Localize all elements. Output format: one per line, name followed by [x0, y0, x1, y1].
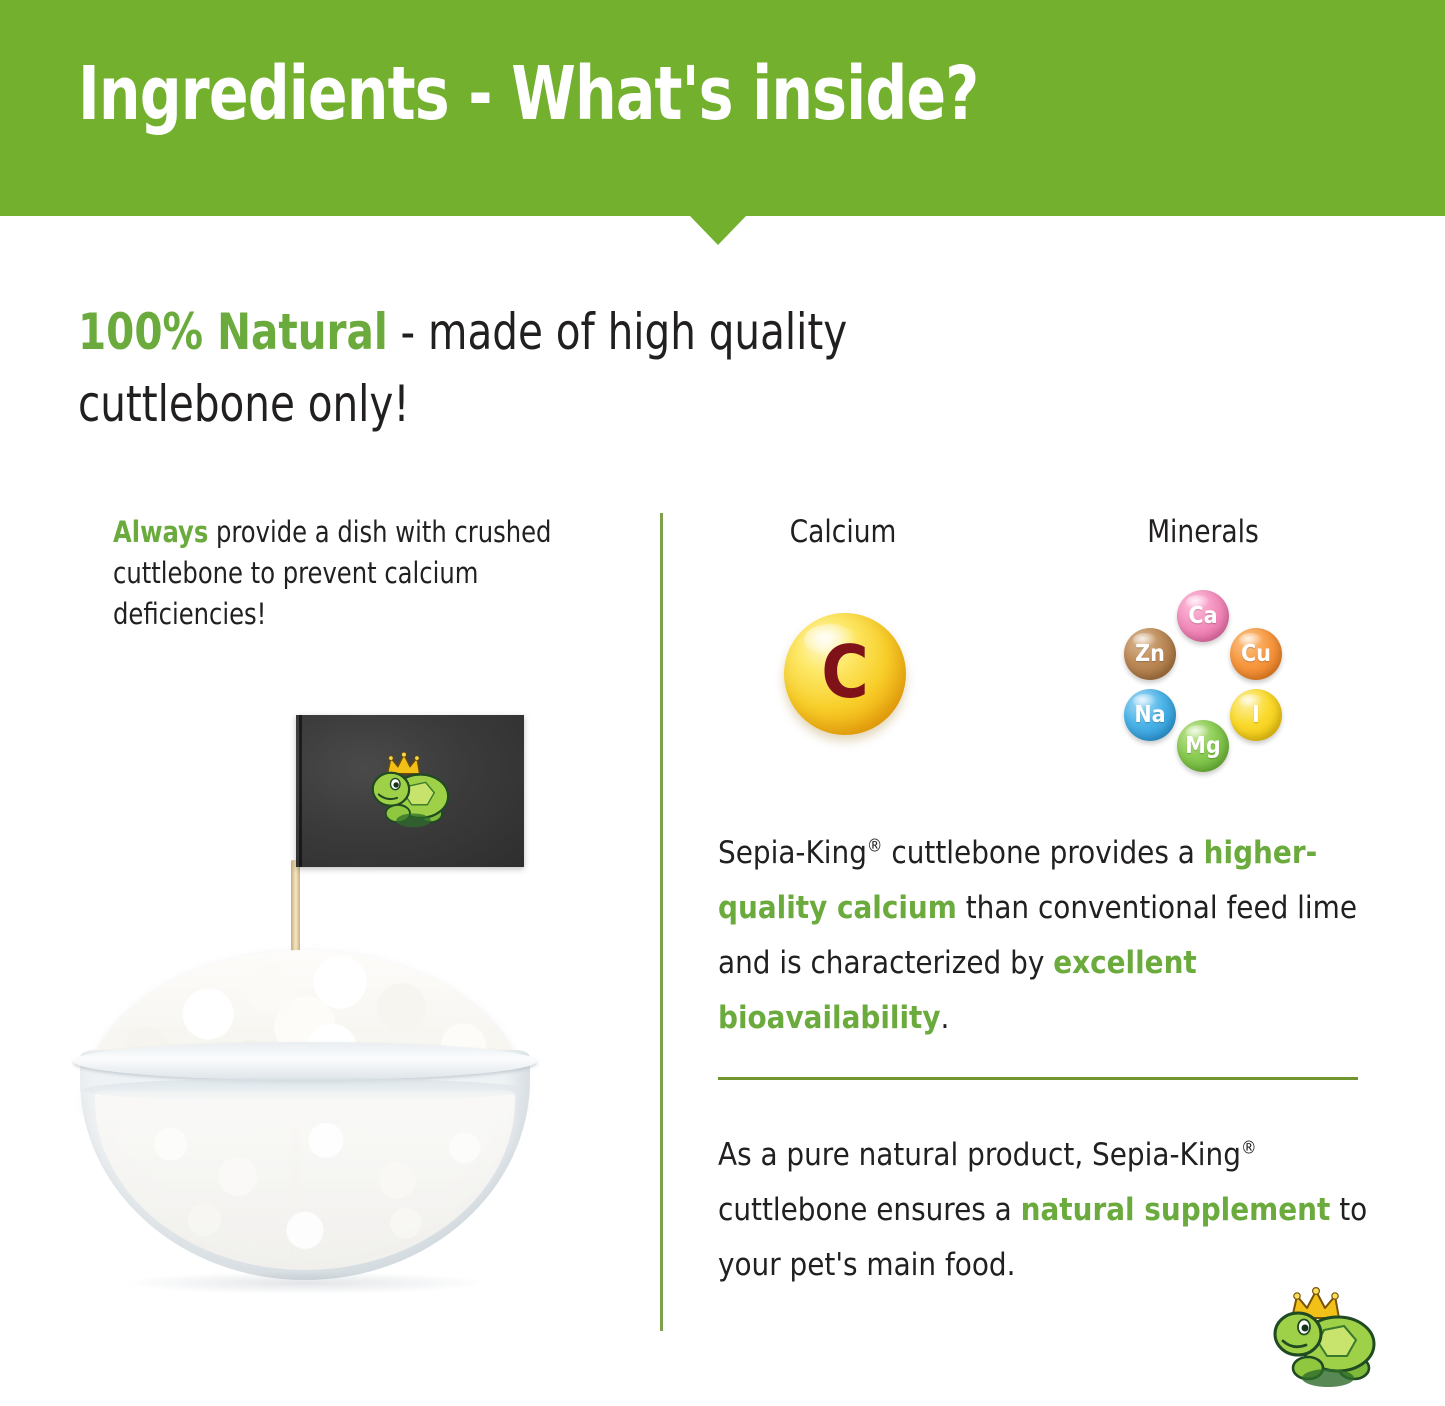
minerals-group: Ca Zn Cu Na Mg I: [1113, 590, 1293, 770]
header-banner: Ingredients - What's inside?: [0, 0, 1445, 216]
nutrient-labels: Calcium Minerals: [718, 512, 1358, 556]
registered-mark-2: ®: [1241, 1139, 1257, 1159]
mineral-i-icon: I: [1230, 689, 1282, 741]
always-note-highlight: Always: [113, 515, 208, 549]
always-note: Always provide a dish with crushed cuttl…: [113, 512, 587, 635]
paragraph-supplement: As a pure natural product, Sepia-King® c…: [718, 1128, 1378, 1293]
left-column: Always provide a dish with crushed cuttl…: [113, 512, 623, 635]
calcium-label: Calcium: [790, 512, 897, 552]
para1-part1: Sepia-King: [718, 835, 867, 871]
paragraph-quality: Sepia-King® cuttlebone provides a higher…: [718, 826, 1378, 1046]
bowl-inner-fill: [95, 1090, 515, 1270]
footer-crowned-turtle-logo: [1262, 1286, 1382, 1392]
headline-highlight: 100% Natural: [78, 303, 388, 361]
para1-part4: .: [941, 1000, 950, 1036]
minerals-label: Minerals: [1147, 512, 1259, 552]
glass-bowl-rim: [73, 1042, 537, 1080]
para1-part2: cuttlebone provides a: [883, 835, 1204, 871]
mineral-zn-icon: Zn: [1124, 628, 1176, 680]
para2-part1: As a pure natural product, Sepia-King: [718, 1137, 1241, 1173]
banner-title: Ingredients - What's inside?: [78, 52, 978, 136]
crowned-turtle-icon: [358, 747, 462, 835]
para2-highlight-1: natural supplement: [1021, 1192, 1331, 1228]
glass-bowl-band: [83, 1078, 527, 1102]
calcium-pill-icon: C: [784, 613, 906, 735]
infographic-page: Ingredients - What's inside? 100% Natura…: [0, 0, 1445, 1406]
mineral-cu-icon: Cu: [1230, 628, 1282, 680]
mineral-ca-icon: Ca: [1177, 590, 1229, 642]
turtle-flag: [296, 715, 524, 867]
bowl-drop-shadow: [125, 1272, 485, 1294]
registered-mark-1: ®: [867, 837, 883, 857]
cuttlebone-bowl: [55, 950, 555, 1300]
para2-part2: cuttlebone ensures a: [718, 1192, 1021, 1228]
horizontal-divider: [718, 1077, 1358, 1080]
mineral-mg-icon: Mg: [1177, 720, 1229, 772]
banner-notch-triangle: [690, 216, 746, 245]
calcium-pill-letter: C: [784, 613, 906, 735]
headline: 100% Natural - made of high quality cutt…: [78, 296, 1032, 440]
mineral-na-icon: Na: [1124, 689, 1176, 741]
product-photo: [55, 700, 585, 1300]
vertical-divider: [660, 513, 663, 1331]
